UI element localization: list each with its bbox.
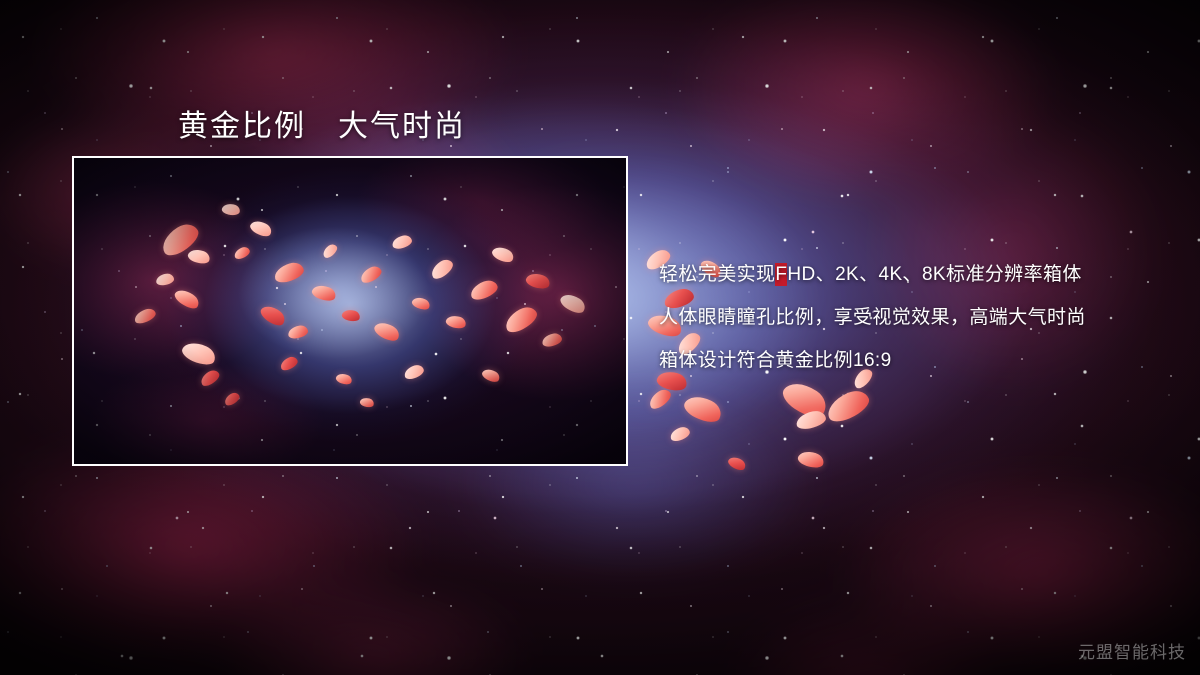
body-text-block: 轻松完美实现FHD、2K、4K、8K标准分辨率箱体 人体眼睛瞳孔比例，享受视觉效…: [659, 253, 1179, 382]
framed-image-panel[interactable]: [72, 156, 628, 466]
body-line-1-prefix: 轻松完美实现: [659, 264, 775, 285]
highlighted-character: F: [775, 263, 787, 286]
body-line-2: 人体眼睛瞳孔比例，享受视觉效果，高端大气时尚: [659, 296, 1179, 339]
presentation-slide: 黄金比例 大气时尚 轻松完美实现FHD、2K、4K、8K标准分辨率箱体 人体眼睛…: [0, 0, 1200, 675]
body-line-3: 箱体设计符合黄金比例16:9: [659, 339, 1179, 382]
watermark: 元盟智能科技: [1078, 638, 1186, 663]
body-line-1-suffix: HD、2K、4K、8K标准分辨率箱体: [787, 264, 1081, 285]
page-title: 黄金比例 大气时尚: [178, 101, 466, 145]
body-line-1: 轻松完美实现FHD、2K、4K、8K标准分辨率箱体: [659, 253, 1179, 296]
panel-vignette: [74, 158, 626, 464]
